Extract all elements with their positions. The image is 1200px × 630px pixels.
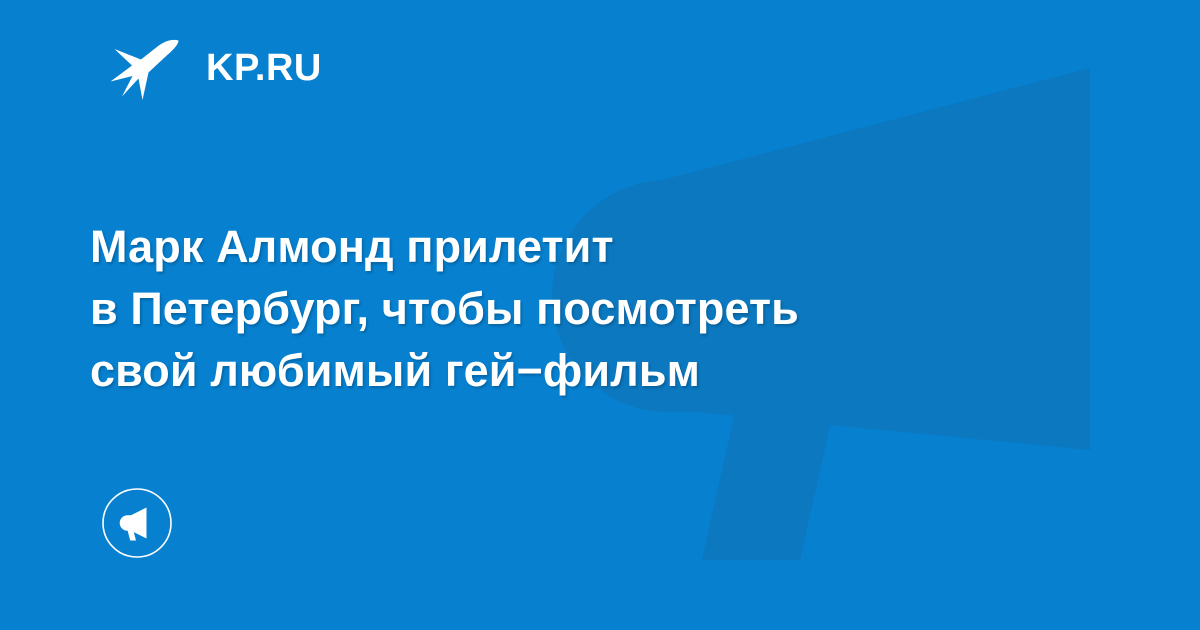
headline-line-1: Марк Алмонд прилетит bbox=[90, 216, 1020, 278]
headline-title: Марк Алмонд прилетит в Петербург, чтобы … bbox=[90, 216, 1020, 402]
social-share-card: KP.RU Марк Алмонд прилетит в Петербург, … bbox=[0, 0, 1200, 630]
headline-line-2: в Петербург, чтобы посмотреть bbox=[90, 278, 1020, 340]
swallow-bird-icon bbox=[108, 34, 184, 102]
megaphone-icon bbox=[101, 487, 173, 559]
brand-logo[interactable]: KP.RU bbox=[108, 34, 322, 102]
headline-line-3: свой любимый гей−фильм bbox=[90, 340, 1020, 402]
megaphone-badge[interactable] bbox=[101, 487, 173, 559]
brand-name-label: KP.RU bbox=[206, 49, 322, 87]
